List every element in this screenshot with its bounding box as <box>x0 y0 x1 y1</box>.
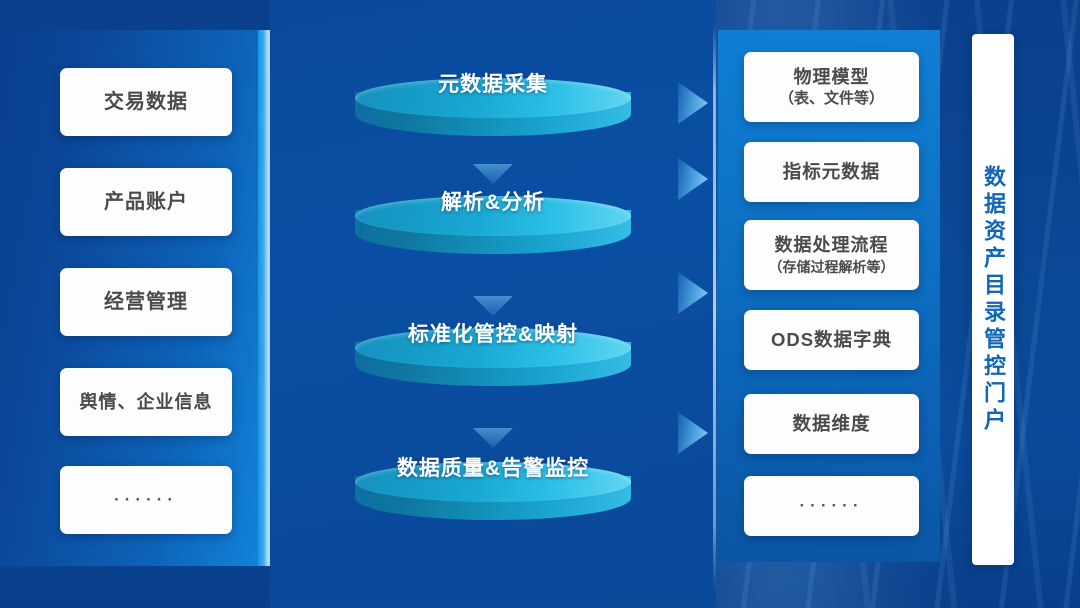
pipeline-stage-parse-analyze[interactable]: 解析&分析 <box>355 196 631 270</box>
pipeline-stage-data-quality-alert-monitoring[interactable]: 数据质量&告警监控 <box>355 462 631 536</box>
portal-title-label: 数据资产目录管控门户 <box>982 165 1004 435</box>
pipeline-stage-metadata-collection[interactable]: 元数据采集 <box>355 78 631 152</box>
asset-card-data-dimension[interactable]: 数据维度 <box>744 394 919 454</box>
asset-card-line2: （存储过程解析等） <box>769 258 895 277</box>
source-card-label: 产品账户 <box>104 189 188 216</box>
asset-card-line1: 物理模型 <box>794 65 870 89</box>
pipeline-stage-label: 解析&分析 <box>355 186 631 216</box>
asset-card-line1: 数据处理流程 <box>775 233 889 257</box>
center-right-divider-line <box>713 22 716 592</box>
source-card-more[interactable]: ······ <box>60 466 232 534</box>
portal-title-bar[interactable]: 数据资产目录管控门户 <box>972 34 1014 565</box>
asset-card-line1: ODS数据字典 <box>771 328 892 353</box>
source-card-public-opinion-enterprise-info[interactable]: 舆情、企业信息 <box>60 368 232 436</box>
asset-card-more[interactable]: ······ <box>744 476 919 536</box>
asset-card-line1: 指标元数据 <box>783 160 881 185</box>
source-card-label: 交易数据 <box>104 89 188 116</box>
source-card-operations-management[interactable]: 经营管理 <box>60 268 232 336</box>
left-panel-accent-bar <box>258 30 270 566</box>
pipeline-stage-label: 元数据采集 <box>355 68 631 98</box>
asset-card-line1: 数据维度 <box>792 412 870 437</box>
source-card-product-account[interactable]: 产品账户 <box>60 168 232 236</box>
asset-card-physical-model[interactable]: 物理模型 （表、文件等） <box>744 52 919 122</box>
source-card-label: 舆情、企业信息 <box>80 390 213 414</box>
asset-card-indicator-metadata[interactable]: 指标元数据 <box>744 142 919 202</box>
pipeline-stage-standardization-mapping[interactable]: 标准化管控&映射 <box>355 328 631 402</box>
source-card-label: 经营管理 <box>104 289 188 316</box>
pipeline-stage-label: 标准化管控&映射 <box>355 318 631 348</box>
diagram-canvas: 交易数据 产品账户 经营管理 舆情、企业信息 ······ 元数据采集 解析&分… <box>0 0 1080 608</box>
asset-card-data-processing-flow[interactable]: 数据处理流程 （存储过程解析等） <box>744 220 919 290</box>
source-card-transaction-data[interactable]: 交易数据 <box>60 68 232 136</box>
asset-card-ods-data-dictionary[interactable]: ODS数据字典 <box>744 310 919 370</box>
pipeline-stage-label: 数据质量&告警监控 <box>355 452 631 482</box>
asset-card-line2: （表、文件等） <box>779 89 884 109</box>
ellipsis-label: ······ <box>114 489 178 512</box>
ellipsis-label: ······ <box>800 495 864 518</box>
